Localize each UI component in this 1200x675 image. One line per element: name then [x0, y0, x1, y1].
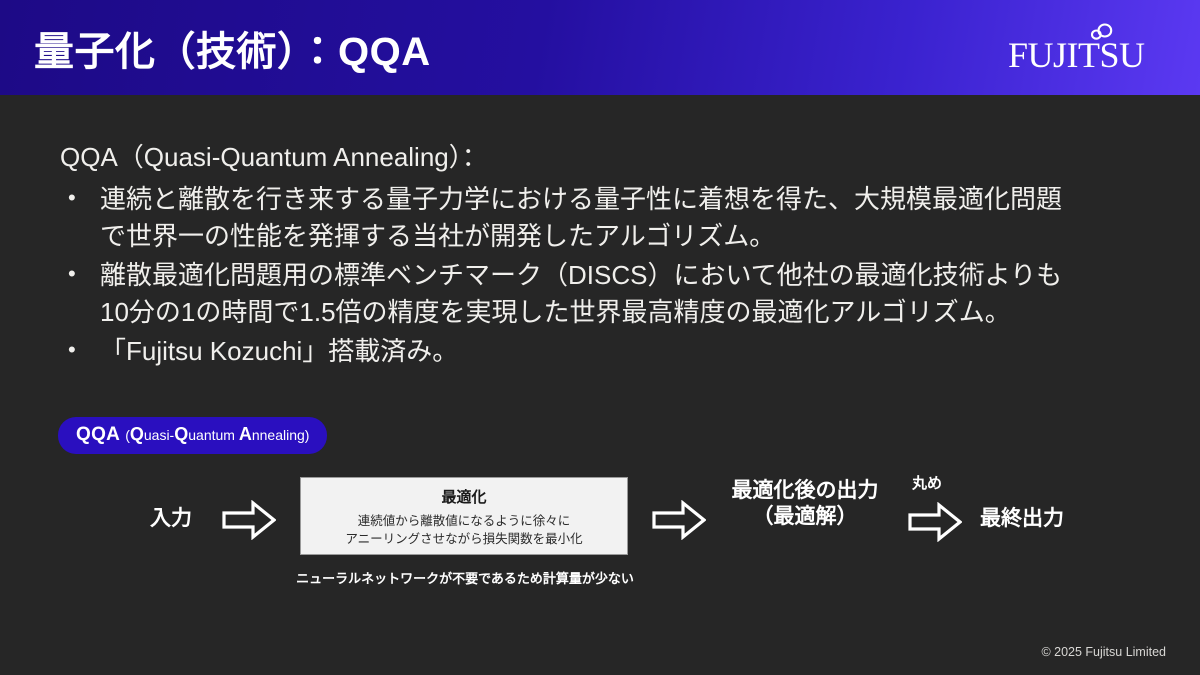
- rounding-label: 丸め: [912, 472, 942, 493]
- page-title: 量子化（技術）：QQA: [34, 19, 431, 77]
- slide-header: 量子化（技術）：QQA FUJITSU: [0, 0, 1200, 95]
- bullet-item-3: 「Fujitsu Kozuchi」搭載済み。: [60, 333, 1150, 370]
- badge-cap-q2: Q: [174, 424, 188, 444]
- right-arrow-icon-2: [652, 500, 706, 540]
- optimization-box-desc-line-1: 連続値から離散値になるように徐々に: [301, 512, 627, 530]
- optimization-box-desc-line-2: アニーリングさせながら損失関数を最小化: [301, 530, 627, 548]
- bullet-item-2: 離散最適化問題用の標準ベンチマーク（DISCS）において他社の最適化技術よりも …: [60, 257, 1150, 331]
- final-output-label: 最終出力: [980, 506, 1064, 532]
- badge-cap-a: A: [239, 424, 252, 444]
- bullet-1-line-2: で世界一の性能を発揮する当社が開発したアルゴリズム。: [100, 218, 1150, 255]
- bullet-item-1: 連続と離散を行き来する量子力学における量子性に着想を得た、大規模最適化問題 で世…: [60, 181, 1150, 255]
- bullet-list: 連続と離散を行き来する量子力学における量子性に着想を得た、大規模最適化問題 で世…: [60, 181, 1150, 370]
- optimization-box-title: 最適化: [301, 486, 627, 507]
- qqa-badge-abbr: QQA: [76, 424, 120, 445]
- badge-text-uasi: uasi-: [144, 427, 174, 443]
- flow-input-label: 入力: [150, 506, 192, 532]
- optimized-output-label: 最適化後の出力 （最適解）: [715, 478, 895, 531]
- right-arrow-icon-3: [908, 502, 962, 542]
- fujitsu-logo: FUJITSU: [1006, 21, 1166, 75]
- body-text-block: QQA（Quasi-Quantum Annealing）： 連続と離散を行き来す…: [60, 140, 1150, 372]
- badge-text-nnealing: nnealing): [252, 427, 310, 443]
- optimized-output-line-1: 最適化後の出力: [715, 478, 895, 504]
- badge-text-uantum: uantum: [188, 427, 239, 443]
- badge-cap-q1: Q: [130, 424, 144, 444]
- slide: 量子化（技術）：QQA FUJITSU QQA（Quasi-Quantum An…: [0, 0, 1200, 675]
- bullet-3-line-1: 「Fujitsu Kozuchi」搭載済み。: [100, 333, 1150, 370]
- bullet-2-line-2: 10分の1の時間で1.5倍の精度を実現した世界最高精度の最適化アルゴリズム。: [100, 294, 1150, 331]
- flow-diagram: 入力 最適化 連続値から離散値になるように徐々に アニーリングさせながら損失関数…: [140, 470, 1090, 580]
- lead-line: QQA（Quasi-Quantum Annealing）：: [60, 140, 1150, 175]
- right-arrow-icon-1: [222, 500, 276, 540]
- bullet-2-line-1: 離散最適化問題用の標準ベンチマーク（DISCS）において他社の最適化技術よりも: [100, 257, 1150, 294]
- fujitsu-wordmark: FUJITSU: [1008, 35, 1145, 75]
- copyright-footer: © 2025 Fujitsu Limited: [1041, 645, 1166, 659]
- bullet-1-line-1: 連続と離散を行き来する量子力学における量子性に着想を得た、大規模最適化問題: [100, 181, 1150, 218]
- optimized-output-line-2: （最適解）: [715, 504, 895, 530]
- qqa-badge-expansion: (Quasi-Quantum Annealing): [125, 427, 309, 443]
- optimization-box: 最適化 連続値から離散値になるように徐々に アニーリングさせながら損失関数を最小…: [300, 477, 628, 555]
- qqa-badge: QQA(Quasi-Quantum Annealing): [58, 417, 327, 454]
- flow-note: ニューラルネットワークが不要であるため計算量が少ない: [290, 568, 640, 587]
